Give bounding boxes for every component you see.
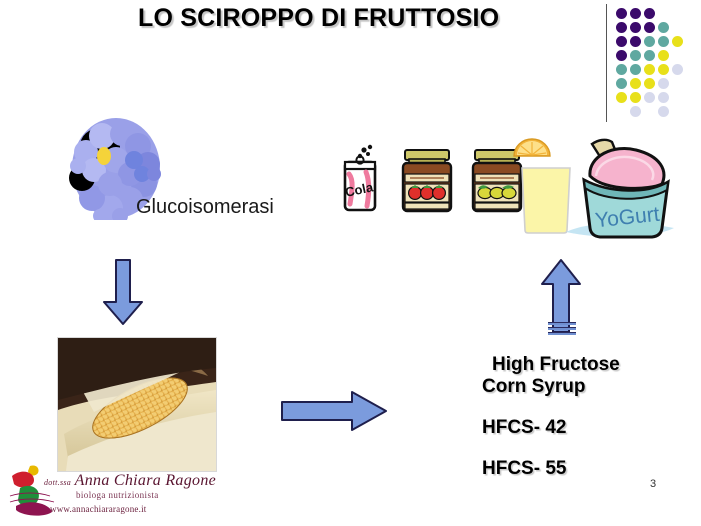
dot-teal: [616, 78, 627, 89]
dot-grid-row: [616, 92, 686, 106]
decorative-dot-grid: [606, 2, 698, 124]
soda-can-icon: Cola: [336, 144, 384, 218]
dot-dark_purple: [616, 22, 627, 33]
dot-dark_purple: [630, 36, 641, 47]
dot-grid-row: [616, 50, 686, 64]
dot-teal: [658, 22, 669, 33]
dot-dark_purple: [616, 36, 627, 47]
dot-dark_purple: [630, 8, 641, 19]
enzyme-label: Glucoisomerasi: [136, 196, 274, 219]
dot-yellow: [630, 92, 641, 103]
page-title: LO SCIROPPO DI FRUTTOSIO: [138, 4, 598, 33]
arrow-tail-stripes: [548, 322, 576, 337]
footer-name-line: dott.ssa Anna Chiara Ragone: [44, 472, 216, 490]
dot-placeholder: [644, 106, 655, 117]
yogurt-cup-icon: YoGurt: [562, 136, 680, 244]
page-number: 3: [650, 478, 656, 490]
dot-grid-rows: [616, 8, 686, 120]
dot-teal: [644, 50, 655, 61]
dot-yellow: [630, 78, 641, 89]
footer-role: biologa nutrizionista: [76, 490, 159, 500]
dot-pale_lavender: [658, 92, 669, 103]
footer-signature: dott.ssa Anna Chiara Ragone biologa nutr…: [0, 458, 240, 524]
dot-teal: [630, 64, 641, 75]
dot-dark_purple: [616, 50, 627, 61]
dot-dark_purple: [644, 22, 655, 33]
product-illustrations: Cola: [330, 132, 682, 244]
dot-grid-row: [616, 22, 686, 36]
dot-yellow: [644, 78, 655, 89]
dot-dark_purple: [644, 8, 655, 19]
dot-grid-row: [616, 8, 686, 22]
dot-grid-row: [616, 64, 686, 78]
dot-pale_lavender: [658, 106, 669, 117]
hfcs-text-block: High Fructose Corn Syrup HFCS- 42 HFCS- …: [482, 355, 692, 478]
arrow-right-icon: [280, 390, 390, 432]
arrow-down-icon: [100, 258, 146, 326]
dot-placeholder: [672, 78, 683, 89]
dot-yellow: [644, 64, 655, 75]
dot-placeholder: [658, 8, 669, 19]
dot-placeholder: [672, 22, 683, 33]
dot-yellow: [658, 64, 669, 75]
dot-teal: [658, 36, 669, 47]
dot-dark_purple: [630, 22, 641, 33]
dot-dark_purple: [616, 8, 627, 19]
dot-teal: [630, 50, 641, 61]
footer-name-prefix: dott.ssa: [44, 478, 71, 487]
dot-placeholder: [672, 92, 683, 103]
dot-grid-row: [616, 78, 686, 92]
dot-yellow: [616, 92, 627, 103]
dot-placeholder: [616, 106, 627, 117]
dot-placeholder: [672, 50, 683, 61]
dot-pale_lavender: [658, 78, 669, 89]
dot-yellow: [658, 50, 669, 61]
dot-pale_lavender: [644, 92, 655, 103]
hfcs-line-3: HFCS- 42: [482, 418, 692, 437]
dot-grid-row: [616, 36, 686, 50]
dot-grid-row: [616, 106, 686, 120]
footer-url[interactable]: www.annachiararagone.it: [50, 504, 146, 514]
slide-canvas: LO SCIROPPO DI FRUTTOSIO: [0, 0, 701, 526]
hfcs-line-2: Corn Syrup: [482, 377, 692, 396]
jam-jar-strawberry-icon: [396, 148, 458, 214]
dot-teal: [644, 36, 655, 47]
hfcs-line-4: HFCS- 55: [482, 459, 692, 478]
footer-name-value: Anna Chiara Ragone: [75, 472, 216, 489]
dot-pale_lavender: [630, 106, 641, 117]
dot-placeholder: [672, 106, 683, 117]
dot-yellow: [672, 36, 683, 47]
dot-placeholder: [672, 8, 683, 19]
dot-pale_lavender: [672, 64, 683, 75]
vertical-rule-divider: [606, 4, 607, 122]
corn-cob-image: [57, 337, 217, 472]
hfcs-line-1: High Fructose: [492, 355, 692, 374]
dot-teal: [616, 64, 627, 75]
